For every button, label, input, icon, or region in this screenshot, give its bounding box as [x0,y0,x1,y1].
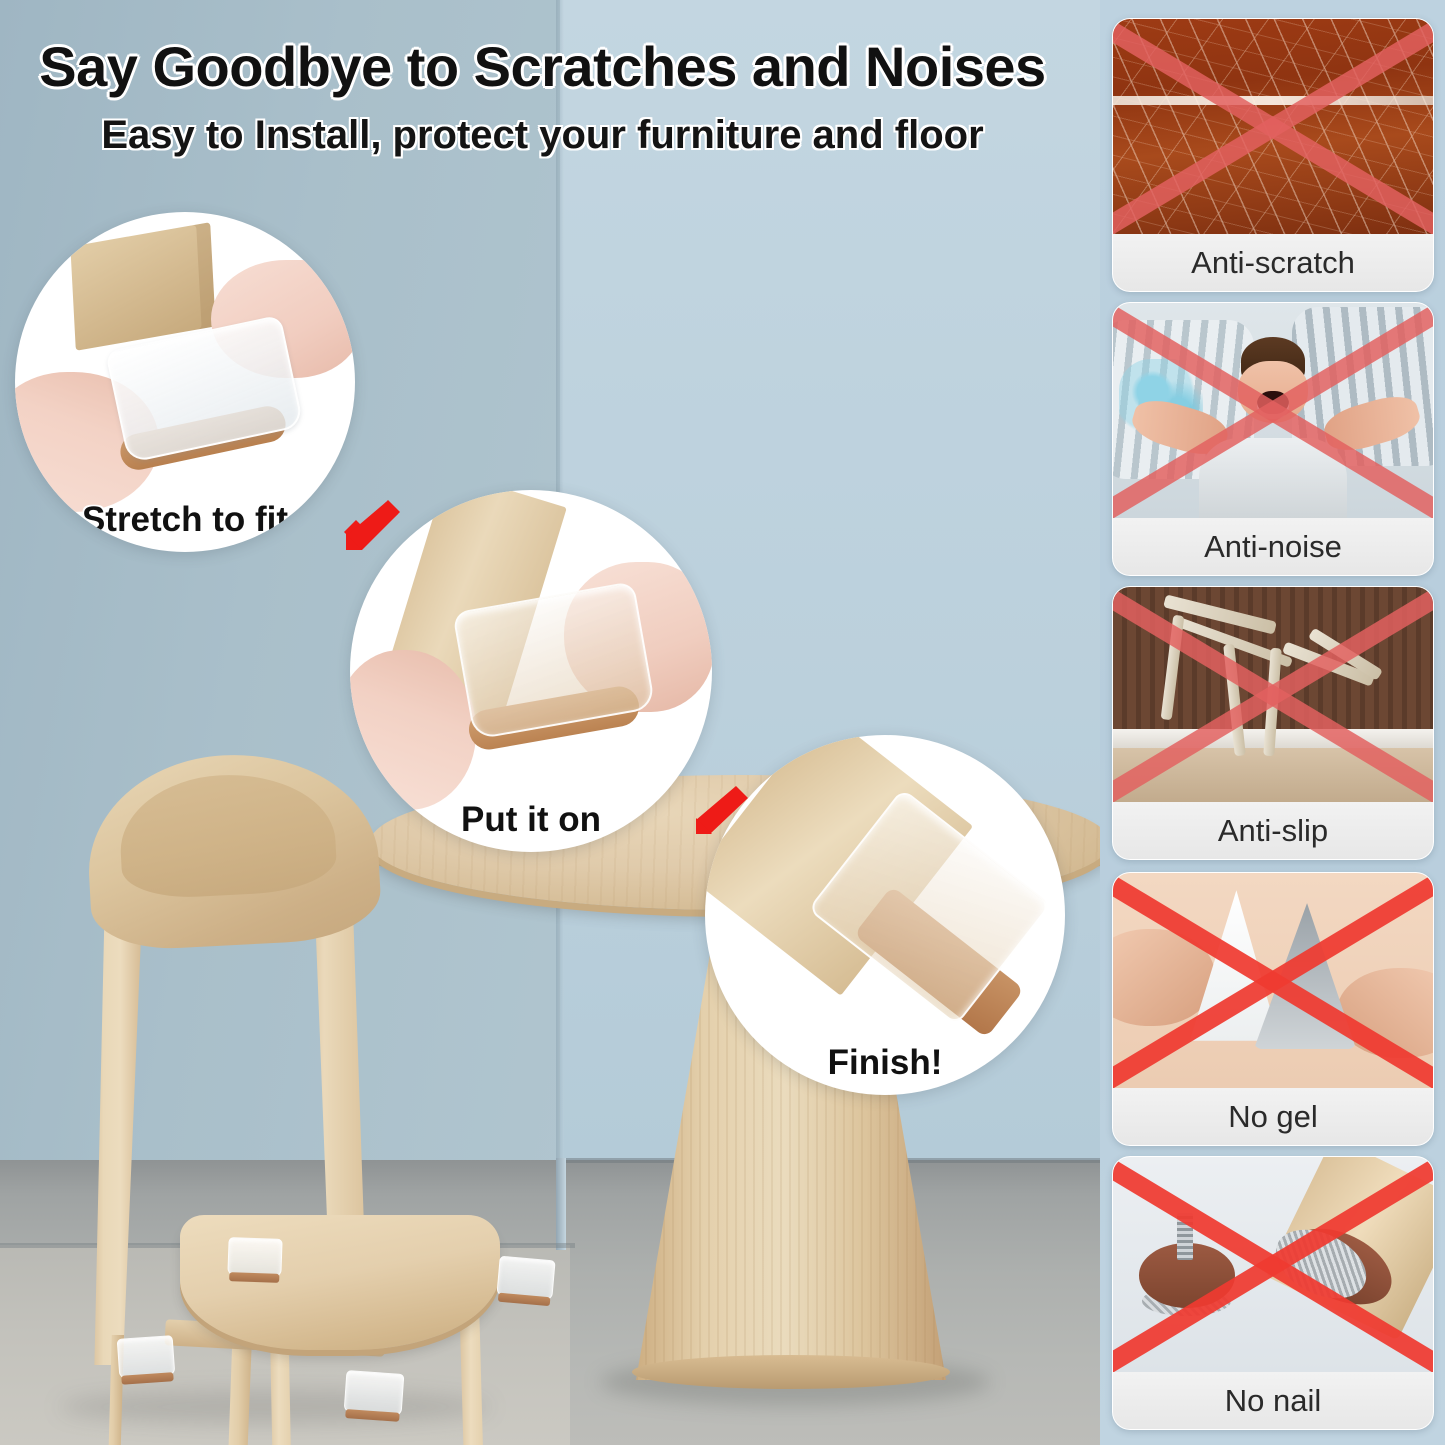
red-x-mark-icon [1113,873,1433,1088]
feature-card-anti-scratch[interactable]: Anti-scratch [1112,18,1434,292]
feature-label-anti-scratch: Anti-scratch [1191,245,1355,281]
page-subtitle: Easy to Install, protect your furniture … [0,113,1085,158]
step-label-finish: Finish! [705,1043,1065,1083]
gel-pads-in-hands-icon [1113,873,1433,1088]
woman-covering-ears-in-bed-icon [1113,303,1433,518]
nail-on-felt-pads-icon [1113,1157,1433,1372]
feature-caption-bar: Anti-noise [1113,518,1433,575]
red-x-mark-icon [1113,303,1433,518]
red-corner-arrow-icon [342,498,402,554]
step-finish: Finish! [705,735,1065,1095]
feature-label-no-nail: No nail [1225,1383,1322,1419]
feature-caption-bar: No gel [1113,1088,1433,1145]
feature-caption-bar: Anti-scratch [1113,234,1433,291]
wood-block-icon [70,222,215,351]
step-label-stretch: Stretch to fit [15,500,355,540]
feature-card-anti-slip[interactable]: Anti-slip [1112,586,1434,860]
feature-label-anti-slip: Anti-slip [1218,813,1328,849]
leg-cap-chair-back-right [496,1256,555,1301]
leg-cap-chair-mid-right [344,1370,405,1416]
page-title: Say Goodbye to Scratches and Noises [0,34,1085,99]
table-base-foot [632,1355,950,1389]
feature-label-no-gel: No gel [1228,1099,1318,1135]
step-stretch-to-fit: Stretch to fit [15,212,355,552]
feature-label-anti-noise: Anti-noise [1204,529,1342,565]
feature-card-no-gel[interactable]: No gel [1112,872,1434,1146]
leg-cap-chair-front-left [117,1335,176,1379]
fallen-chair-icon [1113,587,1433,802]
infographic-canvas: Say Goodbye to Scratches and Noises Easy… [0,0,1445,1445]
feature-caption-bar: No nail [1113,1372,1433,1429]
step-put-it-on: Put it on [350,490,712,852]
finish-photo [705,735,1065,1095]
put-it-on-photo [350,490,712,852]
chair-seat [180,1215,500,1350]
feature-card-no-nail[interactable]: No nail [1112,1156,1434,1430]
feature-panel-column: Anti-scratch Anti-noise [1100,0,1445,1445]
feature-caption-bar: Anti-slip [1113,802,1433,859]
scratched-wood-floor-icon [1113,19,1433,234]
feature-card-anti-noise[interactable]: Anti-noise [1112,302,1434,576]
headline-block: Say Goodbye to Scratches and Noises Easy… [0,34,1085,158]
red-x-mark-icon [1113,1157,1433,1372]
step-label-put-it-on: Put it on [350,800,712,840]
leg-cap-chair-mid-left [227,1237,282,1277]
red-x-mark-icon [1113,587,1433,802]
baseboard [556,1158,566,1250]
red-x-mark-icon [1113,19,1433,234]
red-corner-arrow-icon [692,782,752,838]
